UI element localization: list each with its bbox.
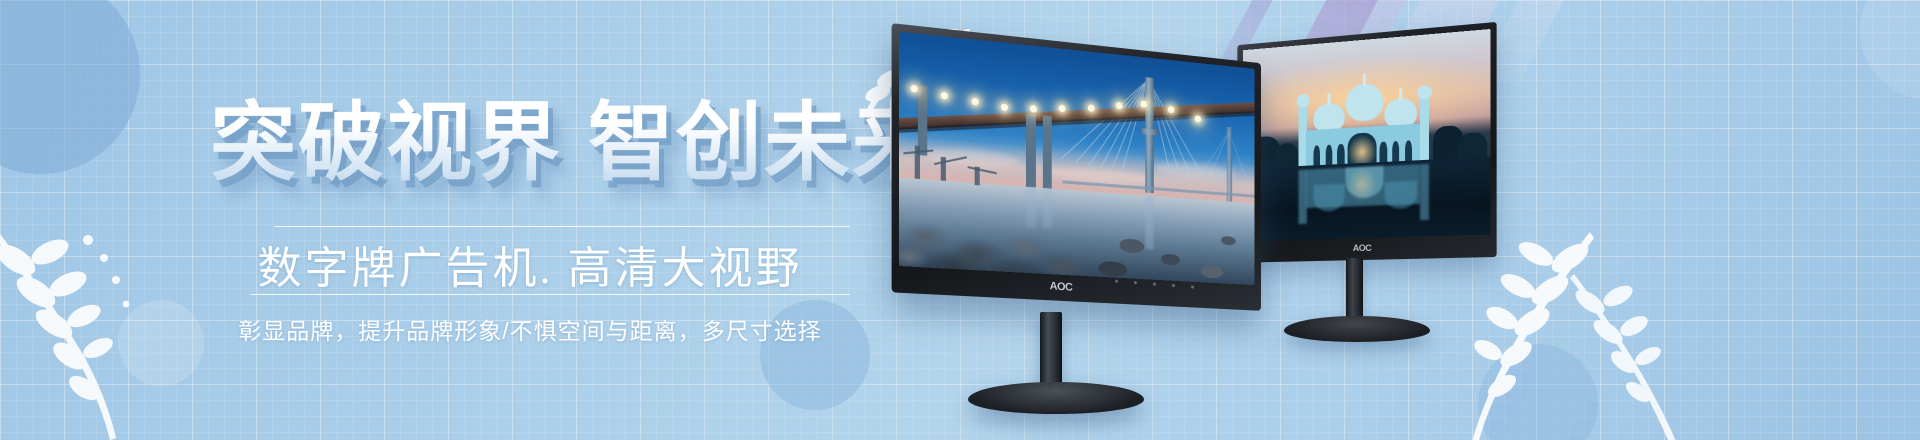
subtitle: 数字牌广告机. 高清大视野: [210, 232, 850, 296]
aoc-logo: AOC: [1050, 280, 1073, 294]
divider-bottom: [250, 294, 850, 295]
monitor-stand-neck: [1346, 258, 1363, 322]
mosque-scene-image: [1243, 29, 1491, 241]
divider-top: [274, 226, 850, 227]
bridge-scene-image: [899, 32, 1255, 286]
product-banner: 突破视界 智创未来 数字牌广告机. 高清大视野 彰显品牌，提升品牌形象/不惧空间…: [0, 0, 1920, 440]
monitor-stand-base: [1284, 316, 1430, 342]
front-monitor: AOC: [894, 44, 1274, 302]
monitor-screen: [1243, 29, 1491, 241]
monitor-stand-base: [968, 382, 1144, 414]
monitor-screen: [899, 32, 1255, 286]
product-images: AOC: [880, 0, 1920, 440]
page-title: 突破视界 智创未来: [210, 72, 940, 197]
monitor-stand-neck: [1040, 312, 1062, 390]
headline-block: 突破视界 智创未来 数字牌广告机. 高清大视野 彰显品牌，提升品牌形象/不惧空间…: [0, 0, 900, 440]
aoc-logo: AOC: [1353, 243, 1372, 253]
tagline: 彰显品牌，提升品牌形象/不惧空间与距离，多尺寸选择: [210, 312, 850, 346]
